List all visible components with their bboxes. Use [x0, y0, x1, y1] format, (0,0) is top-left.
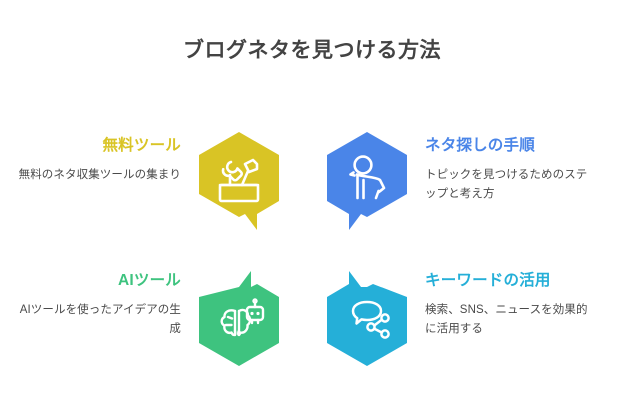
- thinking-person-icon[interactable]: [323, 130, 411, 238]
- speech-share-icon[interactable]: [323, 265, 411, 373]
- card-ai-tools: AIツール AIツールを使ったアイデアの生成: [0, 265, 312, 392]
- toolbox-icon[interactable]: [195, 130, 283, 238]
- card-heading-ai-tools: AIツール: [18, 271, 181, 290]
- card-text-free-tools: 無料ツール 無料のネタ収集ツールの集まり: [0, 130, 195, 185]
- infographic-canvas: ブログネタを見つける方法 無料ツール 無料のネタ収集ツールの集まり: [0, 0, 624, 409]
- card-icon-slot-ai-tools: [195, 265, 294, 392]
- card-heading-free-tools: 無料ツール: [18, 136, 181, 155]
- card-icon-slot-topic-steps: [312, 130, 411, 257]
- card-description-ai-tools: AIツールを使ったアイデアの生成: [18, 301, 181, 338]
- cards-grid: 無料ツール 無料のネタ収集ツールの集まり: [0, 130, 624, 385]
- card-free-tools: 無料ツール 無料のネタ収集ツールの集まり: [0, 130, 312, 257]
- brain-robot-icon[interactable]: [195, 265, 283, 373]
- card-icon-slot-free-tools: [195, 130, 294, 257]
- hex-shape: [327, 132, 407, 230]
- page-title: ブログネタを見つける方法: [0, 38, 624, 63]
- card-text-topic-steps: ネタ探しの手順 トピックを見つけるためのステップと考え方: [411, 130, 606, 204]
- hex-shape: [199, 132, 279, 230]
- card-topic-steps: ネタ探しの手順 トピックを見つけるためのステップと考え方: [312, 130, 624, 257]
- card-heading-topic-steps: ネタ探しの手順: [425, 136, 588, 155]
- card-icon-slot-keyword-usage: [312, 265, 411, 392]
- card-description-free-tools: 無料のネタ収集ツールの集まり: [18, 166, 181, 185]
- card-heading-keyword-usage: キーワードの活用: [425, 271, 588, 290]
- card-description-keyword-usage: 検索、SNS、ニュースを効果的に活用する: [425, 301, 588, 338]
- card-text-ai-tools: AIツール AIツールを使ったアイデアの生成: [0, 265, 195, 339]
- card-keyword-usage: キーワードの活用 検索、SNS、ニュースを効果的に活用する: [312, 265, 624, 392]
- hex-shape: [327, 271, 407, 366]
- card-description-topic-steps: トピックを見つけるためのステップと考え方: [425, 166, 588, 203]
- card-text-keyword-usage: キーワードの活用 検索、SNS、ニュースを効果的に活用する: [411, 265, 606, 339]
